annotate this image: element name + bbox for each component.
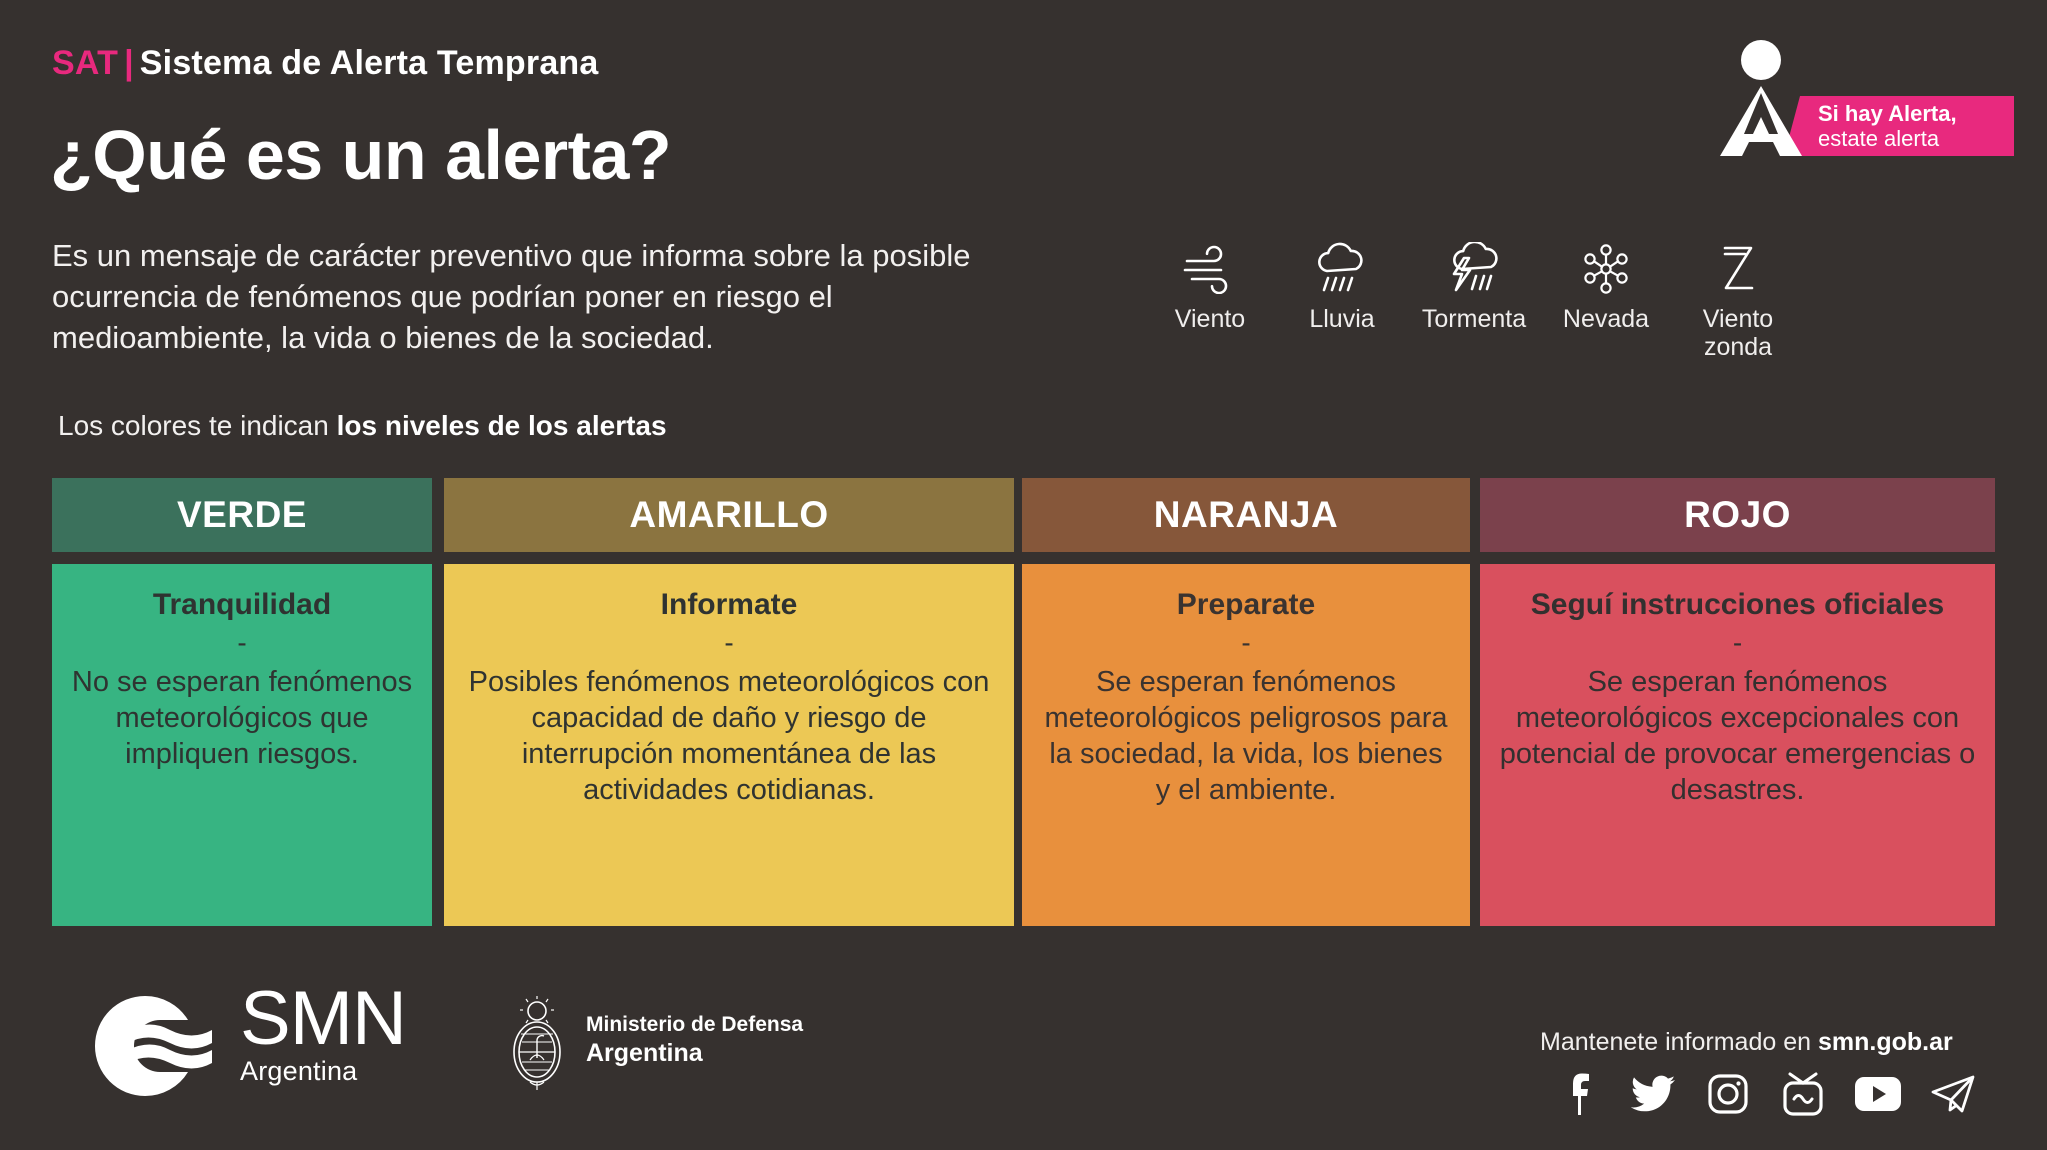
- kicker-sat: SAT: [52, 44, 118, 82]
- weather-label-viento: Viento: [1140, 306, 1280, 334]
- alert-level-rojo[interactable]: ROJO Seguí instrucciones oficiales - Se …: [1480, 478, 1995, 926]
- brand-text: Si hay Alerta, estate alerta: [1818, 102, 2018, 151]
- youtube-icon[interactable]: [1840, 1071, 1915, 1117]
- twitter-icon[interactable]: [1615, 1071, 1690, 1117]
- level-title-verde: Tranquilidad: [70, 588, 414, 623]
- weather-item-lluvia: Lluvia: [1272, 238, 1412, 334]
- kicker-separator: |: [118, 44, 140, 82]
- weather-item-tormenta: Tormenta: [1404, 238, 1544, 334]
- ministry-line-1: Ministerio de Defensa: [586, 1012, 803, 1038]
- weather-label-viento-zonda: Vientozonda: [1668, 306, 1808, 361]
- facebook-icon[interactable]: [1540, 1071, 1615, 1117]
- brand-line-2: estate alerta: [1818, 127, 2018, 152]
- kicker-rest: Sistema de Alerta Temprana: [140, 44, 599, 82]
- ministry-line-2: Argentina: [586, 1038, 803, 1069]
- smn-circle-mark-icon: [70, 990, 220, 1102]
- telegram-icon[interactable]: [1915, 1071, 1990, 1117]
- weather-label-viento-zonda-l2: zonda: [1704, 333, 1772, 361]
- alert-level-verde[interactable]: VERDE Tranquilidad - No se esperan fenóm…: [52, 478, 432, 926]
- weather-label-lluvia: Lluvia: [1272, 306, 1412, 334]
- ministry-logo: Ministerio de Defensa Argentina: [500, 996, 840, 1092]
- weather-label-viento-zonda-l1: Viento: [1703, 305, 1773, 333]
- level-body-rojo: Seguí instrucciones oficiales - Se esper…: [1480, 564, 1995, 926]
- level-body-naranja: Preparate - Se esperan fenómenos meteoro…: [1022, 564, 1470, 926]
- level-dash-amarillo: -: [462, 625, 996, 660]
- kicker: SAT|Sistema de Alerta Temprana: [52, 44, 599, 83]
- social-footer: Mantenete informado en smn.gob.ar: [1540, 1028, 1990, 1117]
- infographic-canvas: SAT|Sistema de Alerta Temprana ¿Qué es u…: [0, 0, 2047, 1150]
- level-header-rojo: ROJO: [1480, 478, 1995, 552]
- wind-icon: [1140, 238, 1280, 300]
- social-tagline: Mantenete informado en smn.gob.ar: [1540, 1028, 1990, 1057]
- instagram-icon[interactable]: [1690, 1071, 1765, 1117]
- smn-logo: SMN Argentina: [70, 990, 420, 1105]
- snowflake-icon: [1536, 238, 1676, 300]
- level-dash-rojo: -: [1498, 625, 1977, 660]
- zonda-wind-icon: [1668, 238, 1808, 300]
- page-title: ¿Qué es un alerta?: [50, 120, 671, 190]
- weather-label-tormenta: Tormenta: [1404, 306, 1544, 334]
- level-header-amarillo: AMARILLO: [444, 478, 1014, 552]
- level-dash-naranja: -: [1040, 625, 1452, 660]
- colors-caption: Los colores te indican los niveles de lo…: [58, 410, 667, 442]
- weather-item-viento-zonda: Vientozonda: [1668, 238, 1808, 361]
- level-header-naranja: NARANJA: [1022, 478, 1470, 552]
- social-icon-row: [1540, 1071, 1990, 1117]
- alert-levels-grid: VERDE Tranquilidad - No se esperan fenóm…: [0, 478, 2047, 938]
- alert-level-amarillo[interactable]: AMARILLO Informate - Posibles fenómenos …: [444, 478, 1014, 926]
- smn-wordmark: SMN Argentina: [240, 984, 406, 1087]
- level-title-naranja: Preparate: [1040, 588, 1452, 623]
- alert-person-a-icon: [1706, 38, 1816, 156]
- level-desc-rojo: Se esperan fenómenos meteorológicos exce…: [1498, 664, 1977, 809]
- level-desc-verde: No se esperan fenómenos meteorológicos q…: [70, 664, 414, 773]
- level-dash-verde: -: [70, 625, 414, 660]
- si-hay-alerta-brand: Si hay Alerta, estate alerta: [1706, 38, 2016, 156]
- level-body-amarillo: Informate - Posibles fenómenos meteoroló…: [444, 564, 1014, 926]
- level-body-verde: Tranquilidad - No se esperan fenómenos m…: [52, 564, 432, 926]
- smn-mark-text: SMN: [240, 984, 406, 1054]
- lead-paragraph: Es un mensaje de carácter preventivo que…: [52, 235, 1012, 359]
- level-desc-amarillo: Posibles fenómenos meteorológicos con ca…: [462, 664, 996, 809]
- argentina-coat-of-arms-icon: [500, 996, 574, 1092]
- colors-caption-plain: Los colores te indican: [58, 410, 337, 441]
- alert-level-naranja[interactable]: NARANJA Preparate - Se esperan fenómenos…: [1022, 478, 1470, 926]
- colors-caption-bold: los niveles de los alertas: [337, 410, 667, 441]
- weather-phenomena-row: Viento Lluvia Tormenta: [1140, 238, 1900, 368]
- weather-item-nevada: Nevada: [1536, 238, 1676, 334]
- storm-icon: [1404, 238, 1544, 300]
- rain-cloud-icon: [1272, 238, 1412, 300]
- level-desc-naranja: Se esperan fenómenos meteorológicos peli…: [1040, 664, 1452, 809]
- social-tagline-plain: Mantenete informado en: [1540, 1028, 1818, 1056]
- weather-label-nevada: Nevada: [1536, 306, 1676, 334]
- level-title-rojo: Seguí instrucciones oficiales: [1498, 588, 1977, 623]
- brand-line-1: Si hay Alerta,: [1818, 102, 2018, 127]
- level-header-verde: VERDE: [52, 478, 432, 552]
- level-title-amarillo: Informate: [462, 588, 996, 623]
- ministry-wordmark: Ministerio de Defensa Argentina: [586, 1012, 803, 1070]
- social-tagline-site: smn.gob.ar: [1818, 1028, 1953, 1056]
- weather-item-viento: Viento: [1140, 238, 1280, 334]
- igtv-icon[interactable]: [1765, 1071, 1840, 1117]
